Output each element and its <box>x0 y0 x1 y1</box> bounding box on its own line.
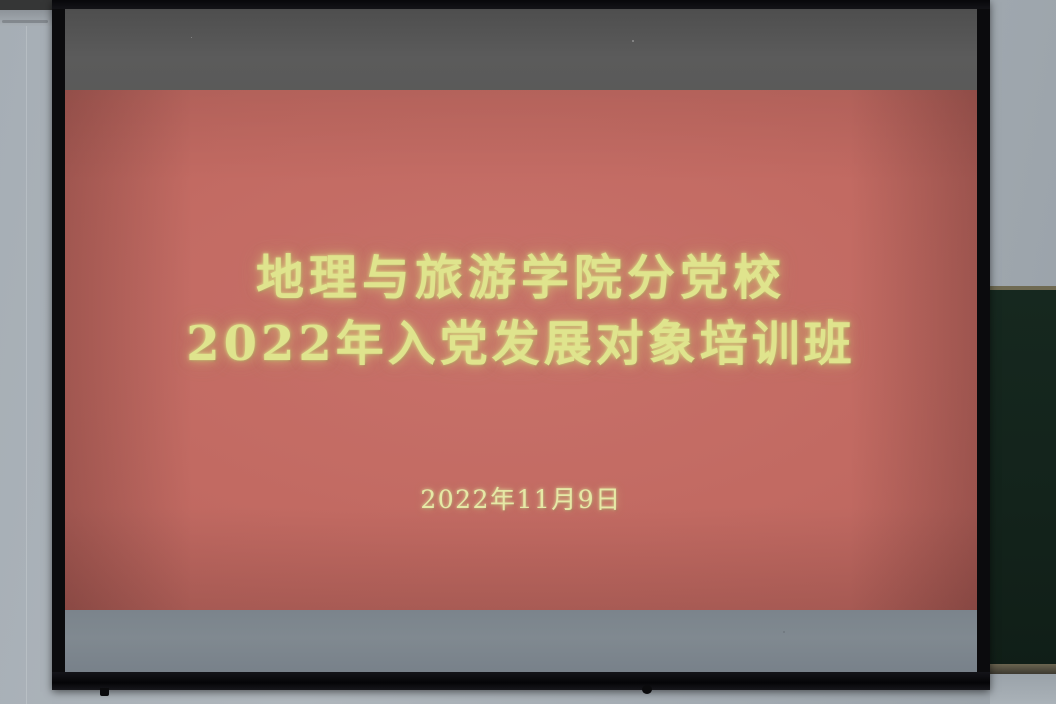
screen-speck <box>191 37 192 38</box>
projection-screen-frame: 地理与旅游学院分党校 2022年入党发展对象培训班 2022年11月9日 <box>52 0 990 690</box>
projected-bottom-letterbox-band <box>65 610 977 672</box>
wall-seam <box>26 26 27 704</box>
presentation-slide: 地理与旅游学院分党校 2022年入党发展对象培训班 2022年11月9日 <box>65 90 977 610</box>
screen-speck <box>632 40 634 42</box>
chalkboard <box>990 286 1056 676</box>
screen-frame-hook-right <box>642 685 652 694</box>
classroom-scene: 地理与旅游学院分党校 2022年入党发展对象培训班 2022年11月9日 <box>0 0 1056 704</box>
slide-title-line-2: 2022年入党发展对象培训班 <box>65 311 977 377</box>
projection-screen-surface: 地理与旅游学院分党校 2022年入党发展对象培训班 2022年11月9日 <box>65 9 977 672</box>
projected-top-letterbox-band <box>65 9 977 90</box>
screen-frame-top-bar <box>52 0 990 9</box>
ceiling-soffit <box>0 10 54 26</box>
ceiling-shadow-band <box>0 0 54 10</box>
chalkboard-chalk-tray <box>990 664 1056 674</box>
wall-below-chalkboard <box>990 674 1056 704</box>
slide-title-block: 地理与旅游学院分党校 2022年入党发展对象培训班 <box>65 245 977 377</box>
screen-frame-hook-left <box>100 688 109 696</box>
screen-frame-bottom-bar <box>52 672 990 690</box>
screen-speck <box>783 631 785 633</box>
wall-pipe <box>2 20 48 23</box>
slide-date: 2022年11月9日 <box>65 480 977 516</box>
slide-title-line-1: 地理与旅游学院分党校 <box>65 245 977 311</box>
